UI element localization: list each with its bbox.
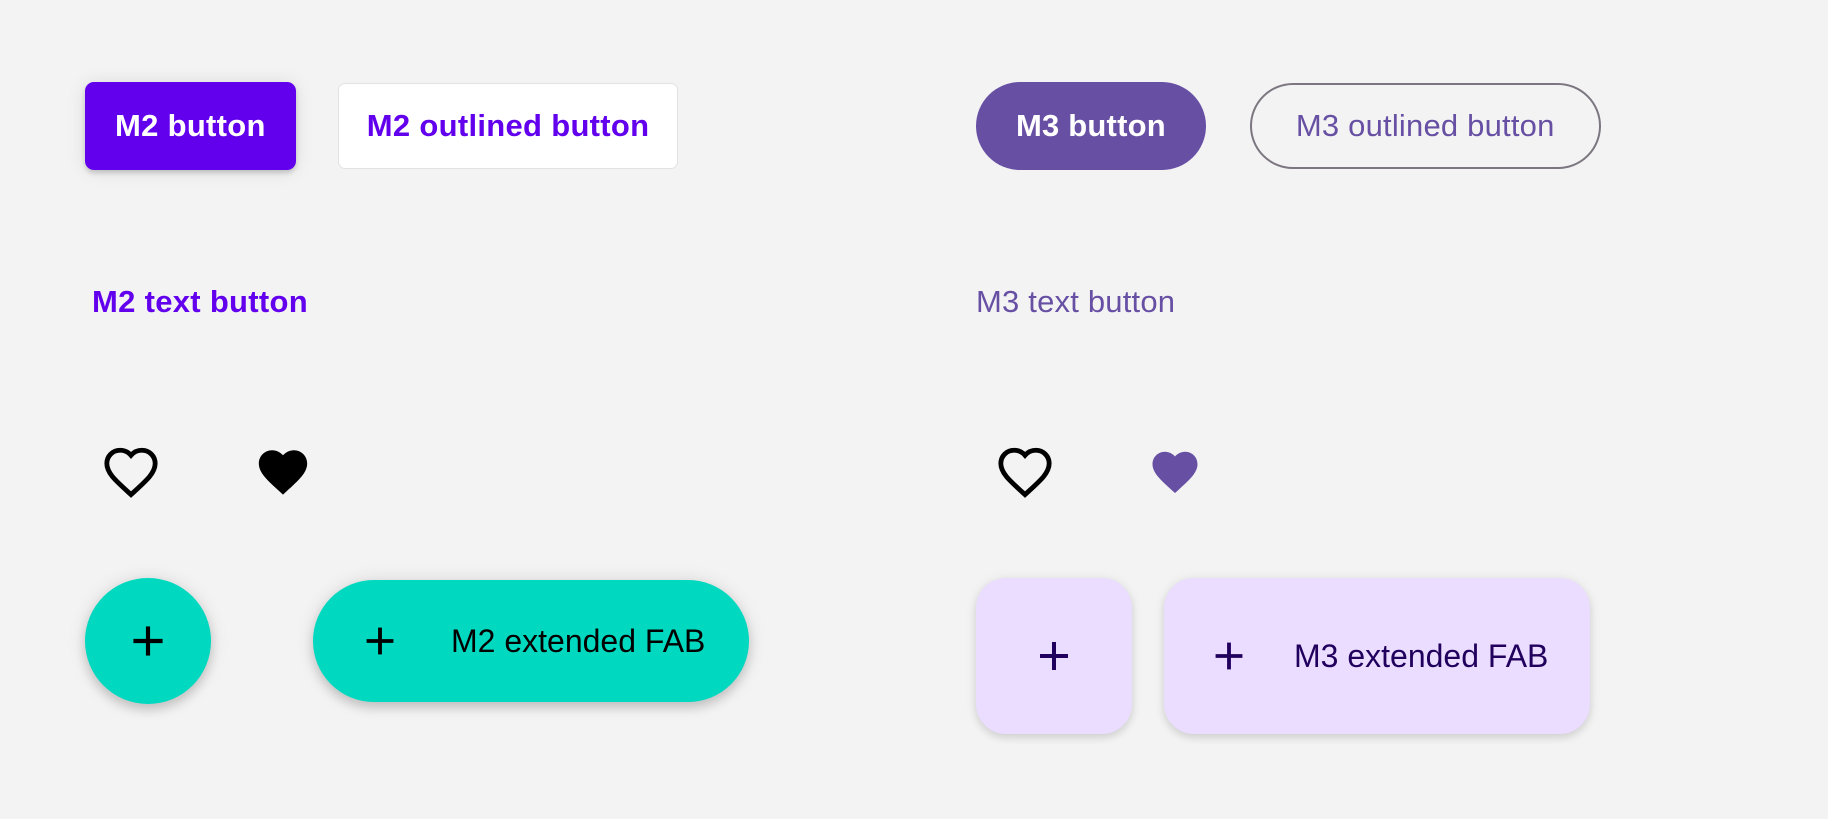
m2-extended-fab-button[interactable]: M2 extended FAB [313,580,749,702]
m3-heart-filled-button[interactable] [1146,445,1204,499]
m2-text-button-row: M2 text button [85,284,308,320]
m3-icons-row [994,443,1204,501]
m2-fab-button[interactable] [85,578,211,704]
heart-outline-icon [100,443,162,501]
m3-text-button-row: M3 text button [976,284,1175,320]
m2-filled-button[interactable]: M2 button [85,82,296,170]
m2-icons-row [100,443,314,501]
m3-outlined-button[interactable]: M3 outlined button [1250,83,1601,169]
plus-icon [1030,632,1078,680]
m3-extended-fab-button[interactable]: M3 extended FAB [1164,578,1590,734]
heart-filled-icon [1146,445,1204,499]
m3-buttons-row: M3 button M3 outlined button [976,82,1601,170]
m3-column: M3 button M3 outlined button M3 text but… [914,0,1828,819]
m3-fab-button[interactable] [976,578,1132,734]
m3-text-button[interactable]: M3 text button [976,284,1175,320]
plus-icon [1206,633,1252,679]
component-showcase-canvas: M2 button M2 outlined button M2 text but… [0,0,1828,819]
m2-extended-fab-label: M2 extended FAB [451,623,705,660]
m2-outlined-button[interactable]: M2 outlined button [338,83,679,169]
m2-buttons-row: M2 button M2 outlined button [85,82,678,170]
m2-heart-filled-button[interactable] [252,443,314,501]
m2-column: M2 button M2 outlined button M2 text but… [0,0,914,819]
plus-icon [123,616,173,666]
heart-outline-icon [994,443,1056,501]
m3-filled-button[interactable]: M3 button [976,82,1206,170]
heart-filled-icon [252,443,314,501]
m3-fabs-row: M3 extended FAB [976,578,1590,734]
m3-extended-fab-label: M3 extended FAB [1294,638,1548,675]
m2-text-button[interactable]: M2 text button [92,284,308,320]
m2-fabs-row: M2 extended FAB [85,578,749,704]
plus-icon [357,618,403,664]
m3-heart-outline-button[interactable] [994,443,1056,501]
m2-heart-outline-button[interactable] [100,443,162,501]
